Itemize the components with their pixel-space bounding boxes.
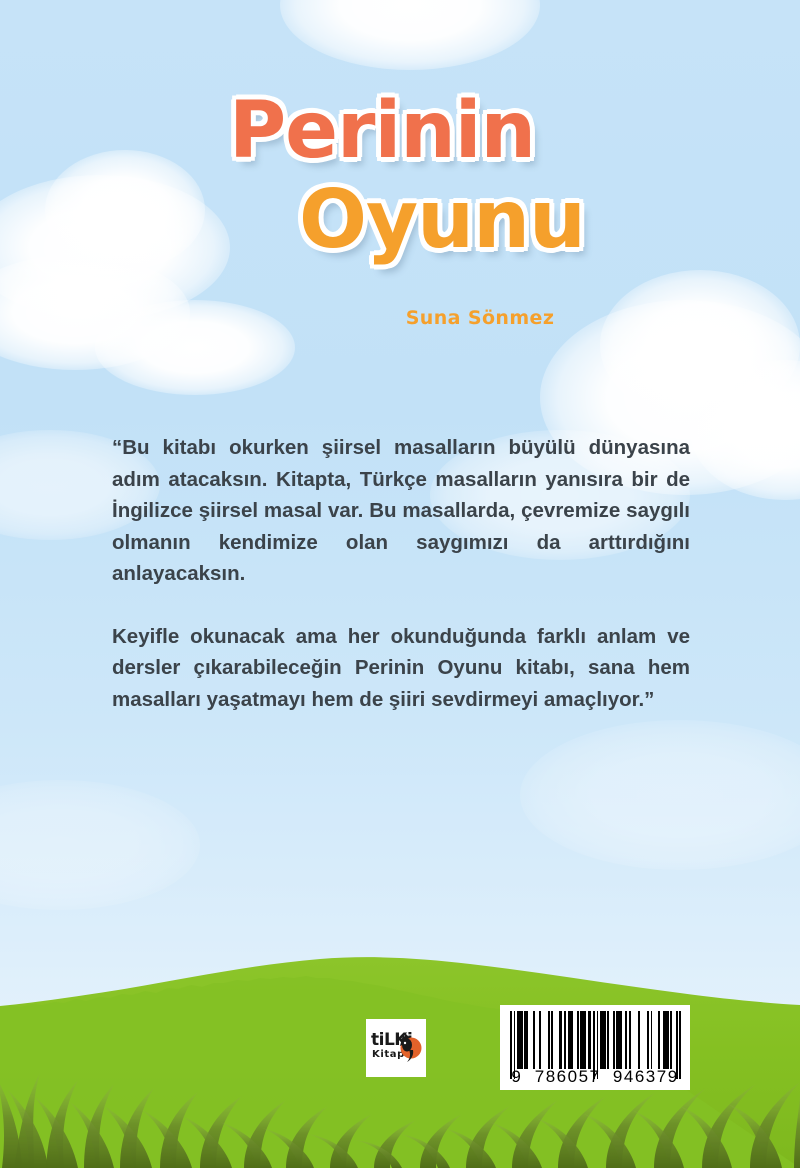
barcode-bar [640, 1011, 647, 1069]
barcode-bar [631, 1011, 638, 1069]
book-back-cover: Perinin Oyunu Suna Sönmez “Bu kitabı oku… [0, 0, 800, 1168]
isbn-barcode: 9 786057 946379 [500, 1005, 690, 1090]
fox-icon [396, 1029, 422, 1063]
book-title: Perinin Oyunu [0, 92, 800, 260]
barcode-digits: 9 786057 946379 [500, 1067, 690, 1087]
barcode-bar [541, 1011, 548, 1069]
cloud-top-center [280, 0, 540, 70]
cloud-center-big-puff [600, 270, 800, 420]
cloud-bottom-sky-faint [520, 720, 800, 870]
publisher-logo[interactable]: tiLKi Kitap [366, 1019, 426, 1077]
title-line-1: Perinin [0, 92, 782, 170]
blurb-paragraph-2: Keyifle okunacak ama her okunduğunda far… [112, 621, 690, 716]
author-name: Suna Sönmez [80, 307, 800, 329]
title-line-2: Oyunu [42, 180, 800, 260]
cloud-bottom-left-faint [0, 780, 200, 910]
barcode-bars [510, 1011, 682, 1069]
blurb-paragraph-1: “Bu kitabı okurken şiirsel masalların bü… [112, 432, 690, 590]
blurb-text: “Bu kitabı okurken şiirsel masalların bü… [112, 432, 690, 715]
cloud-right-edge [690, 360, 800, 500]
